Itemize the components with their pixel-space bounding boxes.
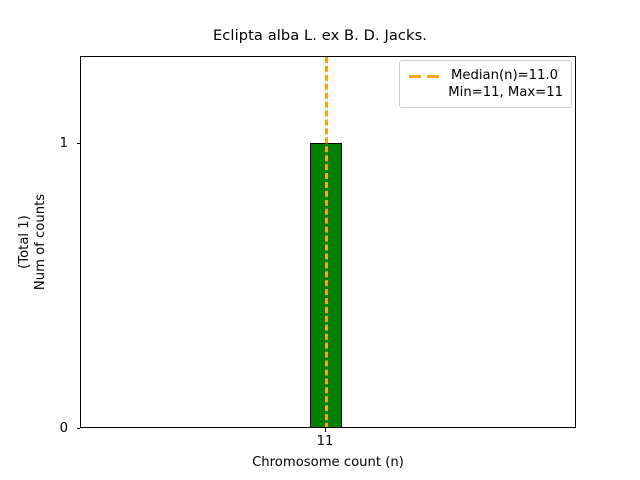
legend-item-median: Median(n)=11.0 — [408, 67, 563, 84]
y-tick-label-1: 1 — [60, 136, 68, 151]
legend-label-minmax: Min=11, Max=11 — [448, 85, 563, 100]
y-axis-label-container: (Total 1) Num of counts — [16, 56, 50, 428]
dashed-line-icon — [408, 69, 444, 83]
legend-item-minmax: Min=11, Max=11 — [408, 84, 563, 101]
x-tick-mark-11 — [325, 428, 326, 432]
y-axis-label-total: (Total 1) — [17, 194, 33, 290]
legend-label-median: Median(n)=11.0 — [451, 68, 558, 83]
chart-figure: Eclipta alba L. ex B. D. Jacks. (Total 1… — [0, 0, 640, 480]
x-axis-label: Chromosome count (n) — [80, 455, 576, 470]
legend[interactable]: Median(n)=11.0 Min=11, Max=11 — [399, 60, 572, 108]
y-tick-label-0: 0 — [60, 421, 68, 436]
median-line — [325, 57, 328, 428]
chart-title: Eclipta alba L. ex B. D. Jacks. — [0, 27, 640, 44]
plot-area — [80, 56, 576, 428]
y-axis-label-main: Num of counts — [33, 194, 48, 290]
x-tick-label-11: 11 — [317, 434, 334, 449]
y-axis-label: (Total 1) Num of counts — [17, 194, 49, 290]
y-tick-mark-0 — [77, 428, 81, 429]
